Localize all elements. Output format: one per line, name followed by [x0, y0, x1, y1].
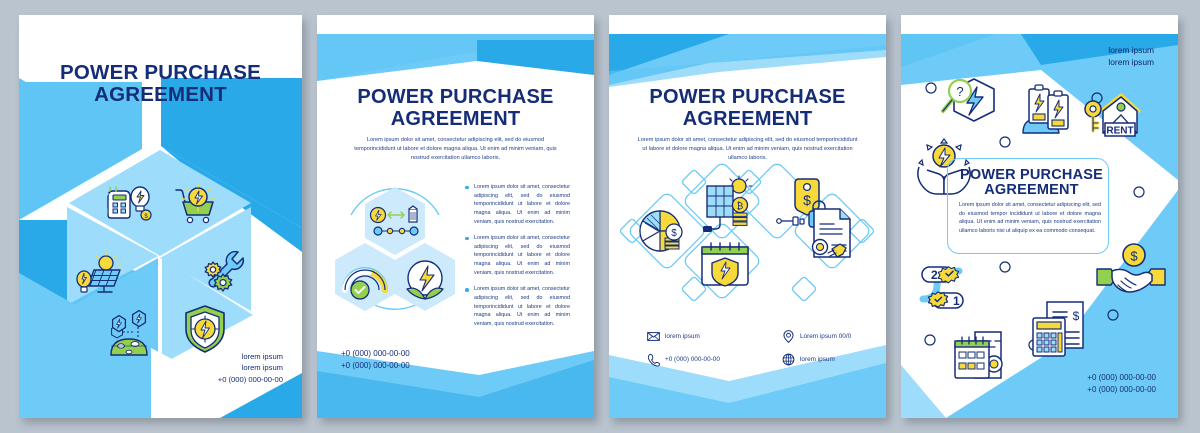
back-title-line-2: AGREEMENT [959, 183, 1104, 198]
bullets-title: POWER PURCHASE AGREEMENT [333, 87, 578, 130]
cover-footer-line-2: lorem ipsum [218, 362, 283, 373]
money-handshake-icon: $ [1096, 243, 1166, 305]
global-energy-network-icon [105, 310, 155, 355]
steps-path-icon: 2 1 [919, 265, 981, 317]
phone-number: +0 (000) 000-00-00 [1087, 372, 1156, 384]
phone-icon [647, 353, 660, 366]
back-title-line-1: POWER PURCHASE [959, 168, 1104, 183]
phone-number: +0 (000) 000-00-00 [1087, 384, 1156, 396]
svg-text:$: $ [803, 192, 811, 208]
energy-shield-icon [182, 304, 228, 354]
contact-email[interactable]: lorem ipsum [647, 330, 752, 343]
bullets-content: POWER PURCHASE AGREEMENT Lorem ipsum dol… [317, 15, 594, 418]
energy-search-icon: ? [940, 75, 1002, 125]
contact-website-label: lorem ipsum [800, 356, 835, 363]
step-number-1: 1 [953, 294, 960, 308]
cover-title-line-1: POWER PURCHASE [31, 62, 290, 84]
panel-inner-bullets[interactable]: POWER PURCHASE AGREEMENT Lorem ipsum dol… [317, 15, 594, 418]
solar-panel-bulb-icon [74, 252, 130, 296]
panel-inner-diamonds[interactable]: POWER PURCHASE AGREEMENT Lorem ipsum dol… [609, 15, 886, 418]
bullets-list: Lorem ipsum dolor sit amet, consectetur … [465, 183, 570, 337]
panel-front-cover[interactable]: POWER PURCHASE AGREEMENT $ [19, 15, 302, 418]
contact-address-label: Lorem ipsum 00/0 [800, 333, 851, 340]
cover-footer-line-1: lorem ipsum [218, 351, 283, 362]
cover-footer: lorem ipsum lorem ipsum +0 (000) 000-00-… [218, 351, 283, 385]
battery-charge-icon [1021, 83, 1076, 133]
cover-title: POWER PURCHASE AGREEMENT [31, 62, 290, 106]
envelope-icon [647, 330, 660, 343]
diamonds-icon-grid: $ ₿ [613, 167, 883, 317]
cover-footer-phone: +0 (000) 000-00-00 [218, 374, 283, 385]
bullet-item: Lorem ipsum dolor sit amet, consectetur … [465, 183, 570, 226]
contact-phone-label: +0 (000) 000-00-00 [665, 356, 720, 363]
bullets-title-line-1: POWER PURCHASE [333, 87, 578, 109]
cover-title-line-2: AGREEMENT [31, 84, 290, 106]
bullets-title-line-2: AGREEMENT [333, 109, 578, 131]
diamonds-lede: Lorem ipsum dolor sit amet, consectetur … [635, 136, 860, 163]
contract-handshake-icon [813, 209, 851, 257]
phone-number: +0 (000) 000-00-00 [341, 360, 410, 372]
diamonds-title: POWER PURCHASE AGREEMENT [625, 87, 870, 130]
back-content: lorem ipsum lorem ipsum ? [901, 15, 1178, 418]
diamonds-title-line-1: POWER PURCHASE [625, 87, 870, 109]
brochure-stage: POWER PURCHASE AGREEMENT $ [0, 0, 1200, 433]
electric-meter-plug-icon: $ [102, 182, 154, 224]
bullets-hexagon-diagram [333, 179, 458, 319]
diamonds-title-line-2: AGREEMENT [625, 109, 870, 131]
gears-wrench-icon [194, 248, 246, 294]
back-title: POWER PURCHASE AGREEMENT [959, 168, 1104, 198]
svg-text:$: $ [671, 228, 677, 239]
bullet-item: Lorem ipsum dolor sit amet, consectetur … [465, 234, 570, 277]
pie-chart-money-icon: $ [640, 211, 682, 251]
svg-text:?: ? [956, 84, 963, 99]
calendar-document-icon [953, 330, 1015, 382]
contact-website[interactable]: lorem ipsum [782, 353, 835, 366]
solar-panel-coins-icon: ₿ [703, 176, 752, 232]
map-pin-icon [782, 330, 795, 343]
contact-address[interactable]: Lorem ipsum 00/0 [782, 330, 851, 343]
contact-phone[interactable]: +0 (000) 000-00-00 [647, 353, 752, 366]
bullet-item: Lorem ipsum dolor sit amet, consectetur … [465, 285, 570, 328]
calculator-invoice-icon: $ [1029, 300, 1091, 358]
rent-sign-label: RENT [1106, 126, 1133, 137]
diamonds-content: POWER PURCHASE AGREEMENT Lorem ipsum dol… [609, 15, 886, 418]
back-body-text: Lorem ipsum dolor sit amet, consectetur … [959, 201, 1101, 236]
globe-icon [782, 353, 795, 366]
energy-calendar-shield-icon [702, 243, 748, 286]
diamonds-contact-block: lorem ipsum Lorem ipsum 00/0 +0 (000) 00… [647, 330, 866, 366]
step-number-2: 2 [931, 268, 938, 282]
bullets-lede: Lorem ipsum dolor sit amet, consectetur … [350, 136, 561, 163]
energy-shopping-cart-icon [172, 182, 218, 224]
house-rent-key-icon: RENT [1083, 87, 1141, 139]
svg-text:$: $ [1073, 309, 1080, 323]
svg-text:$: $ [1130, 249, 1138, 264]
contact-email-label: lorem ipsum [665, 333, 700, 340]
bullets-phone-block: +0 (000) 000-00-00 +0 (000) 000-00-00 [341, 348, 410, 372]
back-phone-block: +0 (000) 000-00-00 +0 (000) 000-00-00 [1087, 372, 1156, 396]
cover-content: POWER PURCHASE AGREEMENT $ [19, 15, 302, 418]
phone-number: +0 (000) 000-00-00 [341, 348, 410, 360]
svg-text:₿: ₿ [737, 201, 744, 211]
panel-back-cover[interactable]: lorem ipsum lorem ipsum ? [901, 15, 1178, 418]
